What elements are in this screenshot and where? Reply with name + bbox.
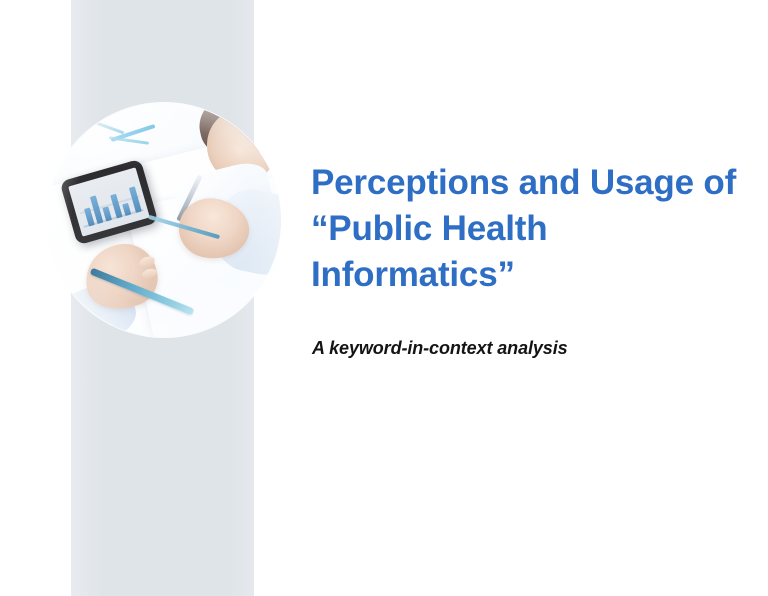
title-line-1: Perceptions and Usage of bbox=[311, 160, 741, 206]
page-title: Perceptions and Usage of “Public Health … bbox=[311, 160, 741, 298]
photo-content bbox=[47, 103, 281, 337]
page-subtitle: A keyword-in-context analysis bbox=[312, 338, 568, 359]
researcher-writing-with-tablet-photo bbox=[47, 103, 281, 337]
title-slide: Perceptions and Usage of “Public Health … bbox=[0, 0, 768, 596]
title-line-3: Informatics” bbox=[311, 252, 741, 298]
photo-vignette bbox=[47, 103, 281, 337]
title-line-2: “Public Health bbox=[311, 206, 741, 252]
